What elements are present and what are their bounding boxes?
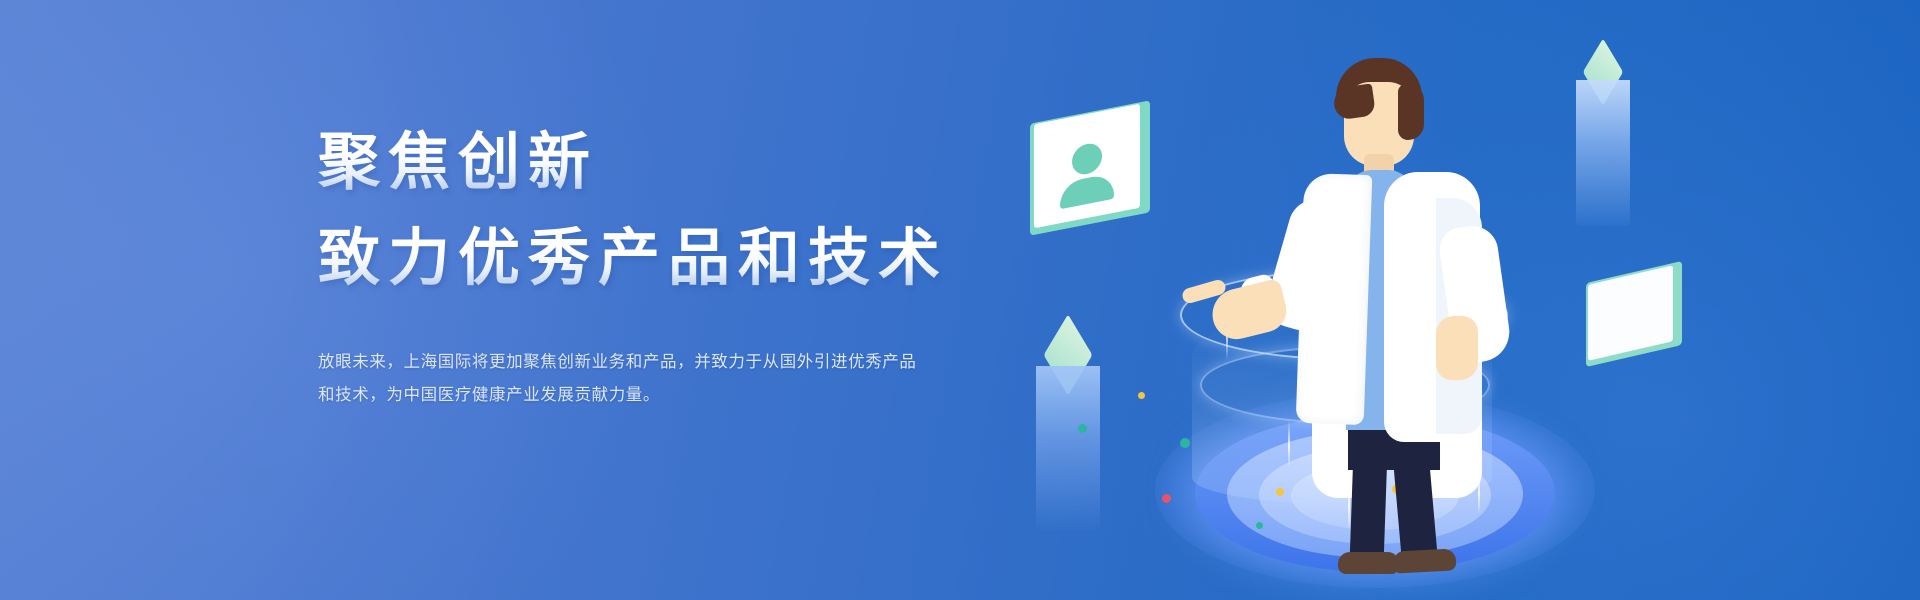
banner-paragraph: 放眼未来，上海国际将更加聚焦创新业务和产品，并致力于从国外引进优秀产品和技术，为… [318, 346, 918, 412]
headline-line-2: 致力优秀产品和技术 [318, 214, 1078, 304]
particle-dot [1180, 438, 1190, 448]
particle-dot [1078, 424, 1087, 433]
leg-left [1349, 419, 1388, 566]
banner-copy: 聚焦创新 致力优秀产品和技术 放眼未来，上海国际将更加聚焦创新业务和产品，并致力… [318, 118, 1078, 428]
headline-line-1: 聚焦创新 [318, 118, 1078, 208]
blank-card [1586, 272, 1682, 356]
shoe-right [1393, 548, 1456, 573]
shoe-left [1338, 552, 1398, 574]
hair-side [1398, 84, 1424, 140]
pillar-short [1030, 340, 1106, 530]
hero-illustration [1030, 0, 1920, 600]
pillar-tall [1570, 58, 1636, 228]
particle-dot [1162, 494, 1171, 503]
user-profile-card [1030, 112, 1150, 224]
hand-on-hip [1436, 316, 1478, 380]
doctor-figure [1260, 48, 1540, 528]
particle-dot [1138, 392, 1145, 399]
hero-banner: 聚焦创新 致力优秀产品和技术 放眼未来，上海国际将更加聚焦创新业务和产品，并致力… [0, 0, 1920, 600]
